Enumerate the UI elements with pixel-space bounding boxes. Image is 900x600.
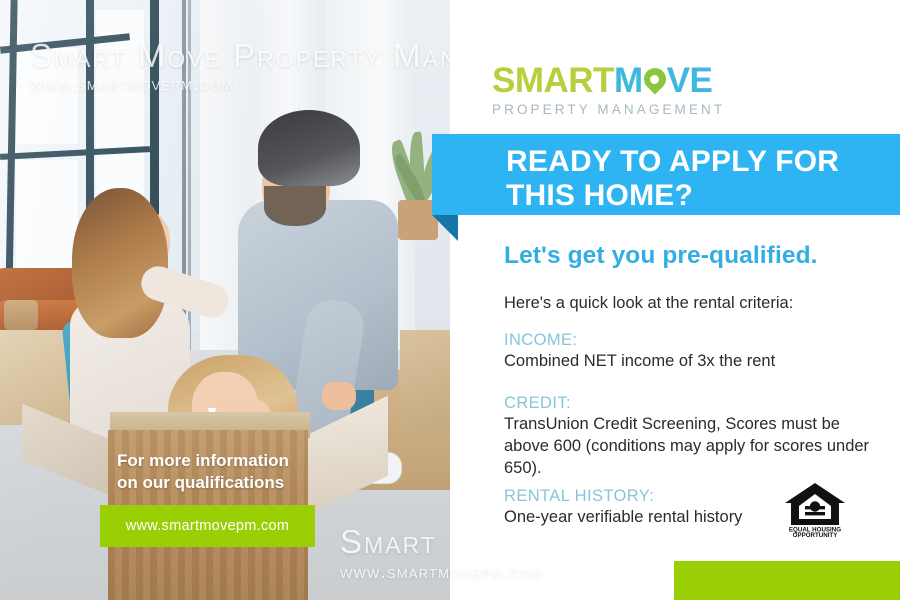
subheading: Let's get you pre-qualified. [504,242,818,270]
criteria-income: INCOME: Combined NET income of 3x the re… [504,331,876,373]
callout-line-1: For more information [117,450,347,472]
logo-text-smart: SMART [492,61,614,100]
website-cta-label: www.smartmovepm.com [126,518,290,534]
criteria-credit: CREDIT: TransUnion Credit Screening, Sco… [504,394,876,479]
eho-house-icon: EQUAL HOUSING OPPORTUNITY [783,481,847,538]
headline-line-2: THIS HOME? [506,179,839,213]
headline-text: READY TO APPLY FOR THIS HOME? [506,145,839,212]
intro-text: Here's a quick look at the rental criter… [504,294,793,313]
info-card-footer-strip [450,560,674,600]
smartmove-logo[interactable]: SMARTMVE PROPERTY MANAGEMENT [492,63,732,119]
callout-line-2: on our qualifications [117,472,347,494]
logo-wordmark: SMARTMVE [492,63,732,98]
criteria-income-text: Combined NET income of 3x the rent [504,351,876,373]
criteria-income-label: INCOME: [504,331,876,350]
eho-label-line-2: OPPORTUNITY [793,532,839,538]
criteria-credit-text: TransUnion Credit Screening, Scores must… [504,414,876,479]
criteria-credit-label: CREDIT: [504,394,876,413]
flyer-canvas: Smart Move Property Mana www.smartmovepm… [0,0,900,600]
callout-text: For more information on our qualificatio… [117,450,347,494]
logo-text-ve: VE [667,61,713,100]
headline-line-1: READY TO APPLY FOR [506,145,839,179]
logo-text-m: M [614,61,643,100]
logo-subtitle: PROPERTY MANAGEMENT [492,102,732,117]
location-pin-icon [643,68,667,98]
green-accent-bar-bottom [674,561,900,600]
headline-banner: READY TO APPLY FOR THIS HOME? [432,134,900,215]
equal-housing-opportunity-icon: EQUAL HOUSING OPPORTUNITY [783,481,847,538]
website-cta-button[interactable]: www.smartmovepm.com [100,505,315,547]
